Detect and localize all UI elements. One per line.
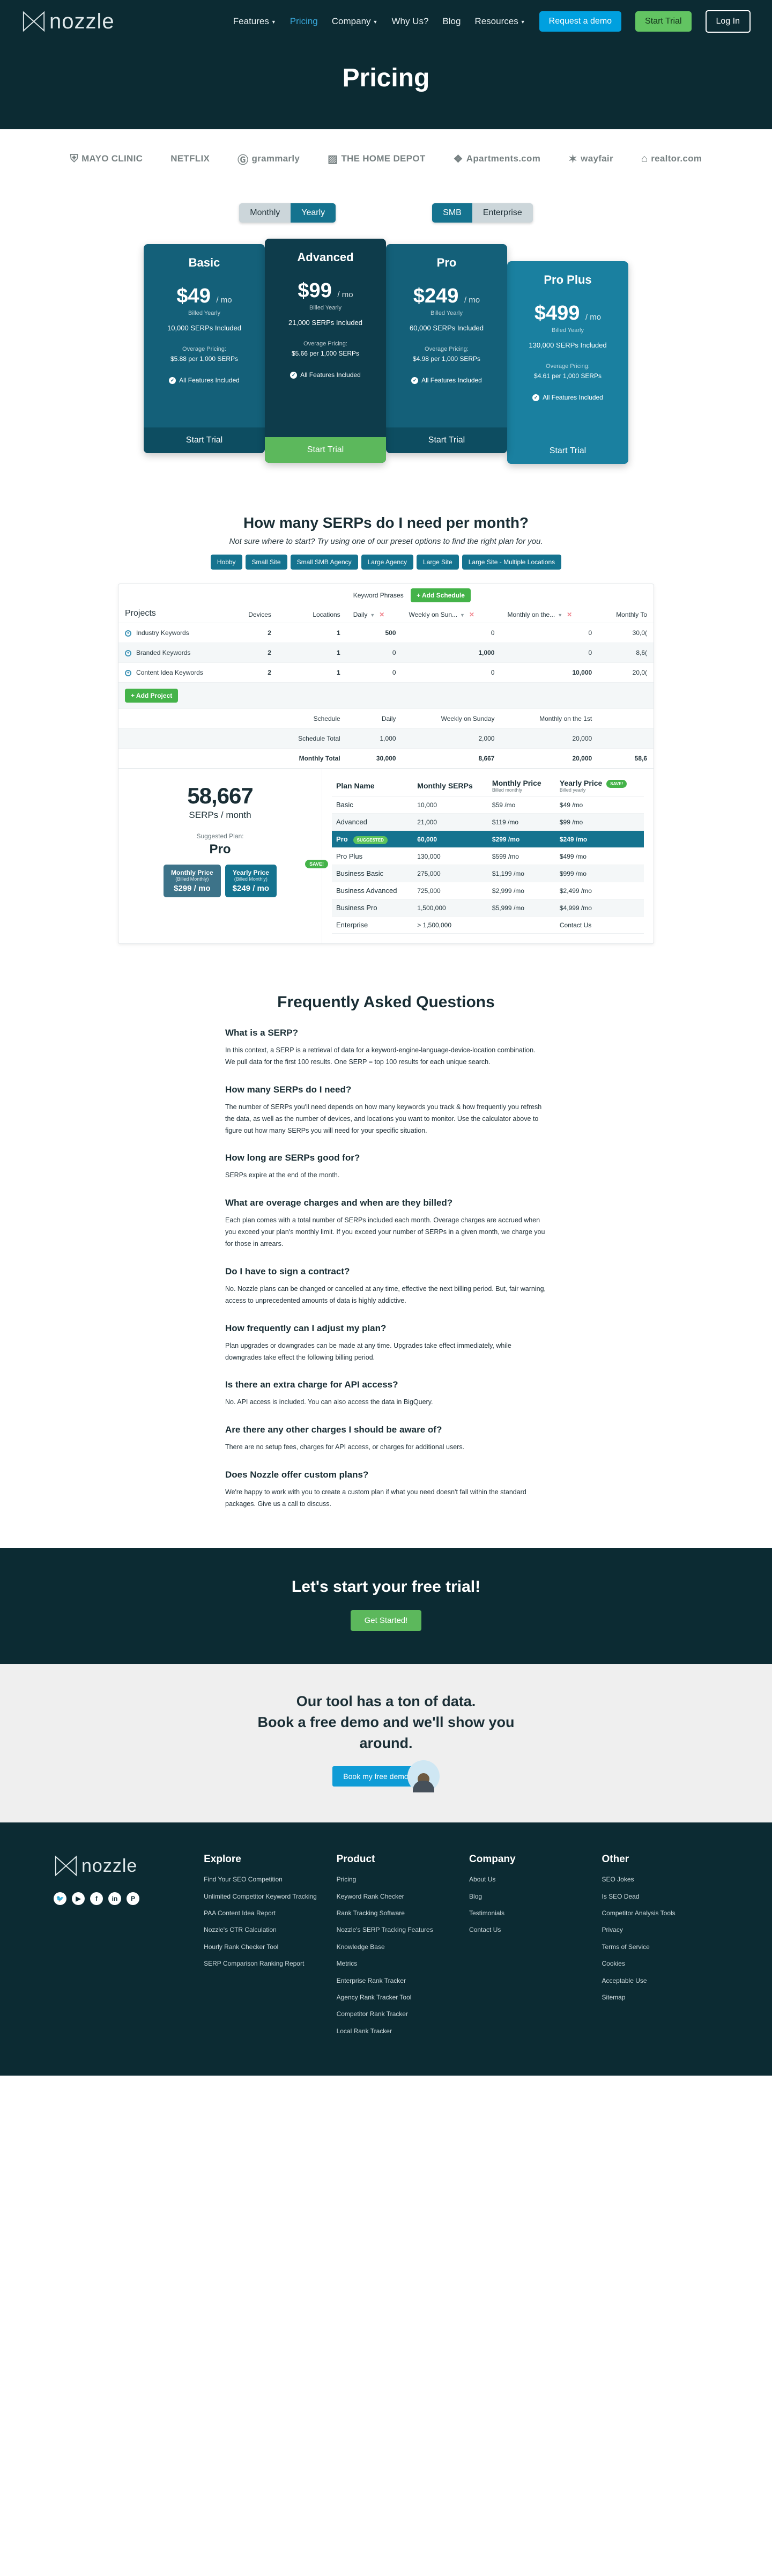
get-started-button[interactable]: Get Started! [351, 1610, 422, 1631]
add-project-row: + Add Project [118, 683, 654, 709]
schedule-name-monthly: Monthly on the 1st [501, 709, 598, 729]
nozzle-logo-icon [21, 9, 46, 34]
footer-link[interactable]: Find Your SEO Competition [204, 1875, 320, 1884]
suggested-badge: SUGGESTED [353, 836, 388, 844]
plan-price: $249 / mo [386, 285, 507, 308]
projects-table: Projects Devices Locations Keyword Phras… [118, 584, 654, 769]
pricing-card-advanced: Advanced $99 / mo Billed Yearly 21,000 S… [265, 239, 386, 463]
plan-name: Pro [336, 835, 348, 843]
customer-logo-bar: ⛨MAYO CLINIC NETFLIX Ⓖgrammarly ▨THE HOM… [0, 129, 772, 188]
demo-cta-wrap: Book my free demo [332, 1760, 439, 1792]
social-links: 🐦 ▶ f in P [54, 1892, 188, 1905]
overage-value: $4.61 per 1,000 SERPs [507, 372, 628, 380]
preset-large-site-multi[interactable]: Large Site - Multiple Locations [462, 555, 561, 570]
footer-link[interactable]: Competitor Rank Tracker [337, 2010, 453, 2019]
weekly-value[interactable]: 0 [403, 623, 501, 643]
chevron-down-icon: ▼ [558, 612, 562, 618]
chevron-down-icon: ▼ [370, 612, 375, 618]
weekly-value[interactable]: 0 [403, 663, 501, 683]
plan-features: ✓All Features Included [144, 377, 265, 384]
plan-monthly-price: $2,999 /mo [488, 882, 555, 899]
check-icon: ✓ [290, 372, 297, 379]
suggested-plan-label: Suggested Plan: [118, 832, 322, 840]
devices-value[interactable]: 2 [233, 663, 278, 683]
book-demo-section: Our tool has a ton of data. Book a free … [0, 1664, 772, 1822]
remove-schedule-icon[interactable]: ✕ [567, 611, 572, 618]
footer-link[interactable]: Hourly Rank Checker Tool [204, 1943, 320, 1952]
th-schedule-monthly[interactable]: Monthly on the...▼✕ [501, 607, 598, 623]
faq-answer: Plan upgrades or downgrades can be made … [225, 1340, 547, 1364]
row-total: 30,0( [598, 623, 654, 643]
demo-heading: Our tool has a ton of data. Book a free … [0, 1691, 772, 1754]
plan-serps: 10,000 SERPs Included [144, 324, 265, 332]
pricing-card-pro: Pro $249 / mo Billed Yearly 60,000 SERPs… [386, 244, 507, 453]
plan-monthly-price: $119 /mo [488, 814, 555, 831]
schedule-total-row: Schedule Total 1,000 2,000 20,000 [118, 729, 654, 749]
footer-link[interactable]: Rank Tracking Software [337, 1909, 453, 1918]
preset-large-agency[interactable]: Large Agency [361, 555, 413, 570]
plan-monthly-price: $5,999 /mo [488, 899, 555, 917]
pricing-cards: Basic $49 / mo Billed Yearly 10,000 SERP… [0, 239, 772, 464]
monthly-value[interactable]: 0 [501, 623, 598, 643]
plan-price: $99 / mo [265, 279, 386, 302]
plan-name: Pro Plus [507, 261, 628, 287]
footer-link[interactable]: Acceptable Use [602, 1976, 718, 1985]
plan-features: ✓All Features Included [507, 394, 628, 401]
avatar-body [413, 1781, 434, 1792]
monthly-total-weekly: 8,667 [403, 749, 501, 769]
footer-link[interactable]: PAA Content Idea Report [204, 1909, 320, 1918]
plan-serps: 10,000 [413, 796, 488, 814]
devices-value[interactable]: 2 [233, 643, 278, 663]
demo-line-1: Our tool has a ton of data. [296, 1693, 476, 1709]
plan-name: Enterprise [332, 917, 413, 934]
table-header-top: Projects Devices Locations Keyword Phras… [118, 584, 654, 607]
th-locations: Locations [278, 584, 347, 623]
billing-note: Billed Yearly [507, 327, 628, 334]
daily-value[interactable]: 500 [347, 623, 403, 643]
request-demo-button[interactable]: Request a demo [539, 11, 621, 32]
footer-column-product: Product Pricing Keyword Rank Checker Ran… [337, 1854, 453, 2043]
monthly-total-daily: 30,000 [347, 749, 403, 769]
faq-question: How many SERPs do I need? [225, 1084, 547, 1095]
nav-company[interactable]: Company▼ [332, 16, 378, 27]
footer-link[interactable]: About Us [469, 1875, 585, 1884]
remove-schedule-icon[interactable]: ✕ [469, 611, 474, 618]
table-row: ✦Branded Keywords 2 1 0 1,000 0 8,6( [118, 643, 654, 663]
toggle-monthly[interactable]: Monthly [239, 203, 291, 223]
th-devices: Devices [233, 584, 278, 623]
faq-section: Frequently Asked Questions What is a SER… [0, 976, 772, 1548]
plan-serps: 60,000 SERPs Included [386, 324, 507, 332]
table-row: ✦Industry Keywords 2 1 500 0 0 30,0( [118, 623, 654, 643]
page-title: Pricing [0, 63, 772, 93]
toggle-smb[interactable]: SMB [432, 203, 472, 223]
footer-link[interactable]: Local Rank Tracker [337, 2027, 453, 2036]
save-badge: SAVE! [305, 860, 328, 868]
plan-serps: > 1,500,000 [413, 917, 488, 934]
apartments-icon: ❖ [454, 152, 463, 166]
calculator-subtitle: Not sure where to start? Try using one o… [0, 537, 772, 546]
plan-monthly-price [488, 917, 555, 934]
plan-price: $499 / mo [507, 302, 628, 325]
plan-monthly-price: $59 /mo [488, 796, 555, 814]
site-footer: nozzle 🐦 ▶ f in P Explore Find Your SEO … [0, 1822, 772, 2076]
row-total: 8,6( [598, 643, 654, 663]
faq-question: Do I have to sign a contract? [225, 1266, 547, 1277]
faq-question: What are overage charges and when are th… [225, 1198, 547, 1208]
chevron-down-icon: ▼ [521, 19, 525, 25]
wayfair-icon: ✶ [568, 152, 577, 166]
footer-column-title: Product [337, 1854, 453, 1865]
monthly-total-row: Monthly Total 30,000 8,667 20,000 58,6 [118, 749, 654, 769]
pricing-card-basic: Basic $49 / mo Billed Yearly 10,000 SERP… [144, 244, 265, 453]
plan-serps: 60,000 [413, 831, 488, 848]
th-schedule-daily[interactable]: Daily▼✕ [347, 607, 403, 623]
hero-section: Pricing [0, 43, 772, 129]
footer-link[interactable]: Pricing [337, 1875, 453, 1884]
footer-link[interactable]: Terms of Service [602, 1943, 718, 1952]
plan-yearly-price: $249 /mo [555, 831, 644, 848]
linkedin-icon[interactable]: in [108, 1892, 121, 1905]
billing-note: Billed Yearly [386, 310, 507, 316]
schedule-name-weekly: Weekly on Sunday [403, 709, 501, 729]
calculator-title: How many SERPs do I need per month? [0, 514, 772, 532]
plan-name: Advanced [265, 239, 386, 264]
footer-column-title: Other [602, 1854, 718, 1865]
plan-contact-us[interactable]: Contact Us [555, 917, 644, 934]
remove-schedule-icon[interactable]: ✕ [379, 611, 384, 618]
weekly-value[interactable]: 1,000 [403, 643, 501, 663]
footer-link[interactable]: Testimonials [469, 1909, 585, 1918]
locations-value[interactable]: 1 [278, 663, 347, 683]
faq-question: Are there any other charges I should be … [225, 1424, 547, 1435]
th-monthly-total: Monthly To [598, 584, 654, 623]
chevron-down-icon: ▼ [373, 19, 378, 25]
brand-logo-home-depot: ▨THE HOME DEPOT [328, 152, 425, 166]
th-keyword-phrases-group: Keyword Phrases + Add Schedule [347, 584, 599, 607]
billing-note: Billed Yearly [265, 305, 386, 311]
faq-question: How long are SERPs good for? [225, 1153, 547, 1163]
demo-line-3: around. [360, 1735, 413, 1751]
suggested-plan-name: Pro [118, 842, 322, 857]
overage-value: $4.98 per 1,000 SERPs [386, 355, 507, 363]
schedule-names-row: Schedule Daily Weekly on Sunday Monthly … [118, 709, 654, 729]
pinterest-icon[interactable]: P [127, 1892, 139, 1905]
plan-comparison-table: Plan Name Monthly SERPs Monthly PriceBil… [332, 776, 644, 934]
billing-note: Billed Yearly [144, 310, 265, 316]
locations-value[interactable]: 1 [278, 623, 347, 643]
footer-column-company: Company About Us Blog Testimonials Conta… [469, 1854, 585, 2043]
start-trial-button[interactable]: Start Trial [635, 11, 691, 32]
schedule-total-weekly: 2,000 [403, 729, 501, 749]
serps-per-month-unit: SERPs / month [118, 810, 322, 821]
grand-total: 58,6 [598, 749, 654, 769]
settings-icon[interactable]: ✦ [125, 670, 131, 676]
table-row-selected[interactable]: ProSUGGESTED 60,000 $299 /mo $249 /mo [332, 831, 644, 848]
plan-serps: 130,000 SERPs Included [507, 341, 628, 349]
plan-name: Business Pro [332, 899, 413, 917]
result-price-buttons: Monthly Price (Billed Monthly) $299 / mo… [118, 865, 322, 897]
th-projects: Projects [118, 584, 233, 623]
faq-title: Frequently Asked Questions [0, 993, 772, 1012]
footer-link[interactable]: Contact Us [469, 1925, 585, 1935]
check-icon: ✓ [532, 394, 539, 401]
plan-comparison-table-wrap: Plan Name Monthly SERPs Monthly PriceBil… [322, 769, 654, 943]
start-trial-advanced-button[interactable]: Start Trial [265, 437, 386, 463]
table-row[interactable]: Business Basic 275,000 $1,199 /mo $999 /… [332, 865, 644, 882]
brand-logo-netflix: NETFLIX [170, 153, 210, 164]
login-button[interactable]: Log In [706, 10, 751, 33]
save-badge: SAVE! [606, 780, 627, 788]
result-summary: 58,667 SERPs / month Suggested Plan: Pro… [118, 769, 322, 943]
footer-link[interactable]: Privacy [602, 1925, 718, 1935]
brand-logo-wayfair: ✶wayfair [568, 152, 613, 166]
chevron-down-icon: ▼ [460, 612, 465, 618]
schedule-total-daily: 1,000 [347, 729, 403, 749]
footer-link[interactable]: Competitor Analysis Tools [602, 1909, 718, 1918]
plan-serps: 275,000 [413, 865, 488, 882]
monthly-price-box[interactable]: Monthly Price (Billed Monthly) $299 / mo [164, 865, 221, 897]
project-name: Branded Keywords [136, 649, 190, 656]
youtube-icon[interactable]: ▶ [72, 1892, 85, 1905]
facebook-icon[interactable]: f [90, 1892, 103, 1905]
brand-logo-apartments: ❖Apartments.com [454, 152, 541, 166]
overage-value: $5.66 per 1,000 SERPs [265, 350, 386, 357]
footer-link[interactable]: Sitemap [602, 1993, 718, 2002]
pricing-section: Monthly Yearly SMB Enterprise Basic $49 … [0, 188, 772, 498]
preset-small-site[interactable]: Small Site [246, 555, 287, 570]
schedule-total-label: Schedule Total [278, 729, 347, 749]
start-trial-pro-plus-button[interactable]: Start Trial [507, 438, 628, 464]
devices-value[interactable]: 2 [233, 623, 278, 643]
schedule-name-daily: Daily [347, 709, 403, 729]
schedule-label: Schedule [278, 709, 347, 729]
check-icon: ✓ [169, 377, 176, 384]
row-total: 20,0( [598, 663, 654, 683]
pricing-card-pro-plus: Pro Plus $499 / mo Billed Yearly 130,000… [507, 261, 628, 464]
faq-question: Does Nozzle offer custom plans? [225, 1470, 547, 1480]
home-depot-square-icon: ▨ [328, 152, 338, 166]
cta-title: Let's start your free trial! [0, 1578, 772, 1596]
th-monthly-price: Monthly PriceBilled monthly [488, 776, 555, 796]
footer-column-other: Other SEO Jokes Is SEO Dead Competitor A… [602, 1854, 718, 2043]
yearly-price-box[interactable]: Yearly Price (Billed Monthly) $249 / mo [225, 865, 277, 897]
faq-answer: In this context, a SERP is a retrieval o… [225, 1045, 547, 1068]
plan-table-header: Plan Name Monthly SERPs Monthly PriceBil… [332, 776, 644, 796]
brand-logo-mayo-clinic: ⛨MAYO CLINIC [70, 153, 143, 165]
table-row[interactable]: Business Pro 1,500,000 $5,999 /mo $4,999… [332, 899, 644, 917]
plan-monthly-price: $299 /mo [488, 831, 555, 848]
overage-label: Overage Pricing: [507, 363, 628, 370]
plan-price: $49 / mo [144, 285, 265, 308]
preset-hobby[interactable]: Hobby [211, 555, 242, 570]
th-plan-name: Plan Name [332, 776, 413, 796]
table-row[interactable]: Advanced 21,000 $119 /mo $99 /mo [332, 814, 644, 831]
faq-answer: We're happy to work with you to create a… [225, 1487, 547, 1510]
plan-yearly-price: $49 /mo [555, 796, 644, 814]
footer-link[interactable]: SERP Comparison Ranking Report [204, 1959, 320, 1968]
plan-serps: 21,000 SERPs Included [265, 319, 386, 327]
avatar [407, 1760, 440, 1792]
plan-monthly-price: $599 /mo [488, 848, 555, 865]
brand-logo-realtor: ⌂realtor.com [641, 153, 702, 165]
project-name: Industry Keywords [136, 629, 189, 637]
plan-name: Pro Plus [332, 848, 413, 865]
chevron-down-icon: ▼ [271, 19, 276, 25]
nav-pricing[interactable]: Pricing [290, 16, 318, 27]
settings-icon[interactable]: ✦ [125, 650, 131, 656]
nav-resources[interactable]: Resources▼ [474, 16, 525, 27]
plan-name: Basic [332, 796, 413, 814]
plan-yearly-price: $499 /mo [555, 848, 644, 865]
faq-answer: Each plan comes with a total number of S… [225, 1215, 547, 1250]
table-row[interactable]: Basic 10,000 $59 /mo $49 /mo [332, 796, 644, 814]
table-row[interactable]: Pro Plus 130,000 $599 /mo $499 /mo [332, 848, 644, 865]
segment-toggle: SMB Enterprise [432, 203, 533, 223]
plan-serps: 1,500,000 [413, 899, 488, 917]
preset-large-site[interactable]: Large Site [417, 555, 459, 570]
free-trial-cta-section: Let's start your free trial! Get Started… [0, 1548, 772, 1664]
billing-toggle: Monthly Yearly [239, 203, 336, 223]
footer-link[interactable]: Nozzle's CTR Calculation [204, 1925, 320, 1935]
nav-blog[interactable]: Blog [442, 16, 461, 27]
th-yearly-price: Yearly PriceSAVE!Billed yearly [555, 776, 644, 796]
check-icon: ✓ [411, 377, 418, 384]
plan-name: Business Basic [332, 865, 413, 882]
site-logo[interactable]: nozzle [21, 9, 115, 34]
faq-answer: There are no setup fees, charges for API… [225, 1442, 547, 1453]
main-nav: Features▼ Pricing Company▼ Why Us? Blog … [233, 10, 751, 33]
pricing-toggles: Monthly Yearly SMB Enterprise [0, 203, 772, 223]
plan-name: Basic [144, 244, 265, 270]
monthly-total-label: Monthly Total [278, 749, 347, 769]
plan-yearly-price: $2,499 /mo [555, 882, 644, 899]
footer-brand-column: nozzle 🐦 ▶ f in P [54, 1854, 188, 2043]
monthly-value[interactable]: 10,000 [501, 663, 598, 683]
start-trial-pro-button[interactable]: Start Trial [386, 427, 507, 453]
footer-link[interactable]: Unlimited Competitor Keyword Tracking [204, 1892, 320, 1901]
table-row[interactable]: Enterprise > 1,500,000 Contact Us [332, 917, 644, 934]
logo-text: nozzle [49, 10, 115, 34]
plan-serps: 725,000 [413, 882, 488, 899]
site-header: nozzle Features▼ Pricing Company▼ Why Us… [0, 0, 772, 43]
th-monthly-serps: Monthly SERPs [413, 776, 488, 796]
faq-answer: No. Nozzle plans can be changed or cance… [225, 1283, 547, 1307]
footer-link[interactable]: Blog [469, 1892, 585, 1901]
daily-value[interactable]: 0 [347, 643, 403, 663]
overage-label: Overage Pricing: [144, 346, 265, 352]
footer-logo-text: nozzle [81, 1856, 137, 1877]
demo-line-2: Book a free demo and we'll show you [257, 1714, 514, 1730]
schedule-total-monthly: 20,000 [501, 729, 598, 749]
plan-name: Business Advanced [332, 882, 413, 899]
twitter-icon[interactable]: 🐦 [54, 1892, 66, 1905]
plan-name: Advanced [332, 814, 413, 831]
start-trial-basic-button[interactable]: Start Trial [144, 427, 265, 453]
footer-link[interactable]: SEO Jokes [602, 1875, 718, 1884]
add-schedule-button[interactable]: + Add Schedule [411, 588, 471, 602]
plan-yearly-price: $999 /mo [555, 865, 644, 882]
preset-buttons: Hobby Small Site Small SMB Agency Large … [0, 555, 772, 570]
serp-calculator-section: How many SERPs do I need per month? Not … [0, 498, 772, 976]
footer-logo[interactable]: nozzle [54, 1854, 188, 1878]
footer-link[interactable]: Cookies [602, 1959, 718, 1968]
toggle-yearly[interactable]: Yearly [291, 203, 336, 223]
plan-name: Pro [386, 244, 507, 270]
faq-answer: The number of SERPs you'll need depends … [225, 1102, 547, 1137]
overage-value: $5.88 per 1,000 SERPs [144, 355, 265, 363]
faq-question: What is a SERP? [225, 1028, 547, 1038]
th-schedule-weekly[interactable]: Weekly on Sun...▼✕ [403, 607, 501, 623]
plan-yearly-price: $99 /mo [555, 814, 644, 831]
footer-column-title: Company [469, 1854, 585, 1865]
faq-question: How frequently can I adjust my plan? [225, 1323, 547, 1334]
locations-value[interactable]: 1 [278, 643, 347, 663]
footer-link[interactable]: Is SEO Dead [602, 1892, 718, 1901]
add-project-button[interactable]: + Add Project [125, 689, 178, 703]
footer-link[interactable]: Agency Rank Tracker Tool [337, 1993, 453, 2002]
footer-link[interactable]: Enterprise Rank Tracker [337, 1976, 453, 1985]
faq-question: Is there an extra charge for API access? [225, 1379, 547, 1390]
realtor-house-icon: ⌂ [641, 153, 648, 165]
monthly-value[interactable]: 0 [501, 643, 598, 663]
brand-logo-grammarly: Ⓖgrammarly [237, 151, 300, 167]
table-row[interactable]: Business Advanced 725,000 $2,999 /mo $2,… [332, 882, 644, 899]
faq-list: What is a SERP? In this context, a SERP … [225, 1028, 547, 1510]
daily-value[interactable]: 0 [347, 663, 403, 683]
plan-serps: 21,000 [413, 814, 488, 831]
footer-link[interactable]: Keyword Rank Checker [337, 1892, 453, 1901]
nav-why-us[interactable]: Why Us? [391, 16, 428, 27]
grammarly-g-icon: Ⓖ [237, 151, 248, 167]
faq-answer: No. API access is included. You can also… [225, 1397, 547, 1408]
toggle-enterprise[interactable]: Enterprise [472, 203, 533, 223]
footer-column-explore: Explore Find Your SEO Competition Unlimi… [204, 1854, 320, 2043]
serps-per-month-value: 58,667 [118, 783, 322, 809]
project-name: Content Idea Keywords [136, 669, 203, 676]
overage-label: Overage Pricing: [265, 341, 386, 347]
nozzle-logo-icon [54, 1854, 78, 1878]
plan-monthly-price: $1,199 /mo [488, 865, 555, 882]
nav-features[interactable]: Features▼ [233, 16, 276, 27]
faq-answer: SERPs expire at the end of the month. [225, 1170, 547, 1182]
plan-features: ✓All Features Included [265, 371, 386, 379]
overage-label: Overage Pricing: [386, 346, 507, 352]
footer-column-title: Explore [204, 1854, 320, 1865]
plan-yearly-price: $4,999 /mo [555, 899, 644, 917]
calculator-results: 58,667 SERPs / month Suggested Plan: Pro… [118, 769, 654, 943]
footer-link[interactable]: Nozzle's SERP Tracking Features [337, 1925, 453, 1935]
settings-icon[interactable]: ✦ [125, 630, 131, 637]
plan-features: ✓All Features Included [386, 377, 507, 384]
preset-small-smb-agency[interactable]: Small SMB Agency [291, 555, 358, 570]
calculator-panel: Projects Devices Locations Keyword Phras… [118, 584, 654, 944]
footer-link[interactable]: Metrics [337, 1959, 453, 1968]
mayo-shield-icon: ⛨ [70, 153, 78, 165]
footer-link[interactable]: Knowledge Base [337, 1943, 453, 1952]
table-row: ✦Content Idea Keywords 2 1 0 0 10,000 20… [118, 663, 654, 683]
plan-serps: 130,000 [413, 848, 488, 865]
monthly-total-monthly: 20,000 [501, 749, 598, 769]
book-demo-button[interactable]: Book my free demo [332, 1766, 419, 1787]
